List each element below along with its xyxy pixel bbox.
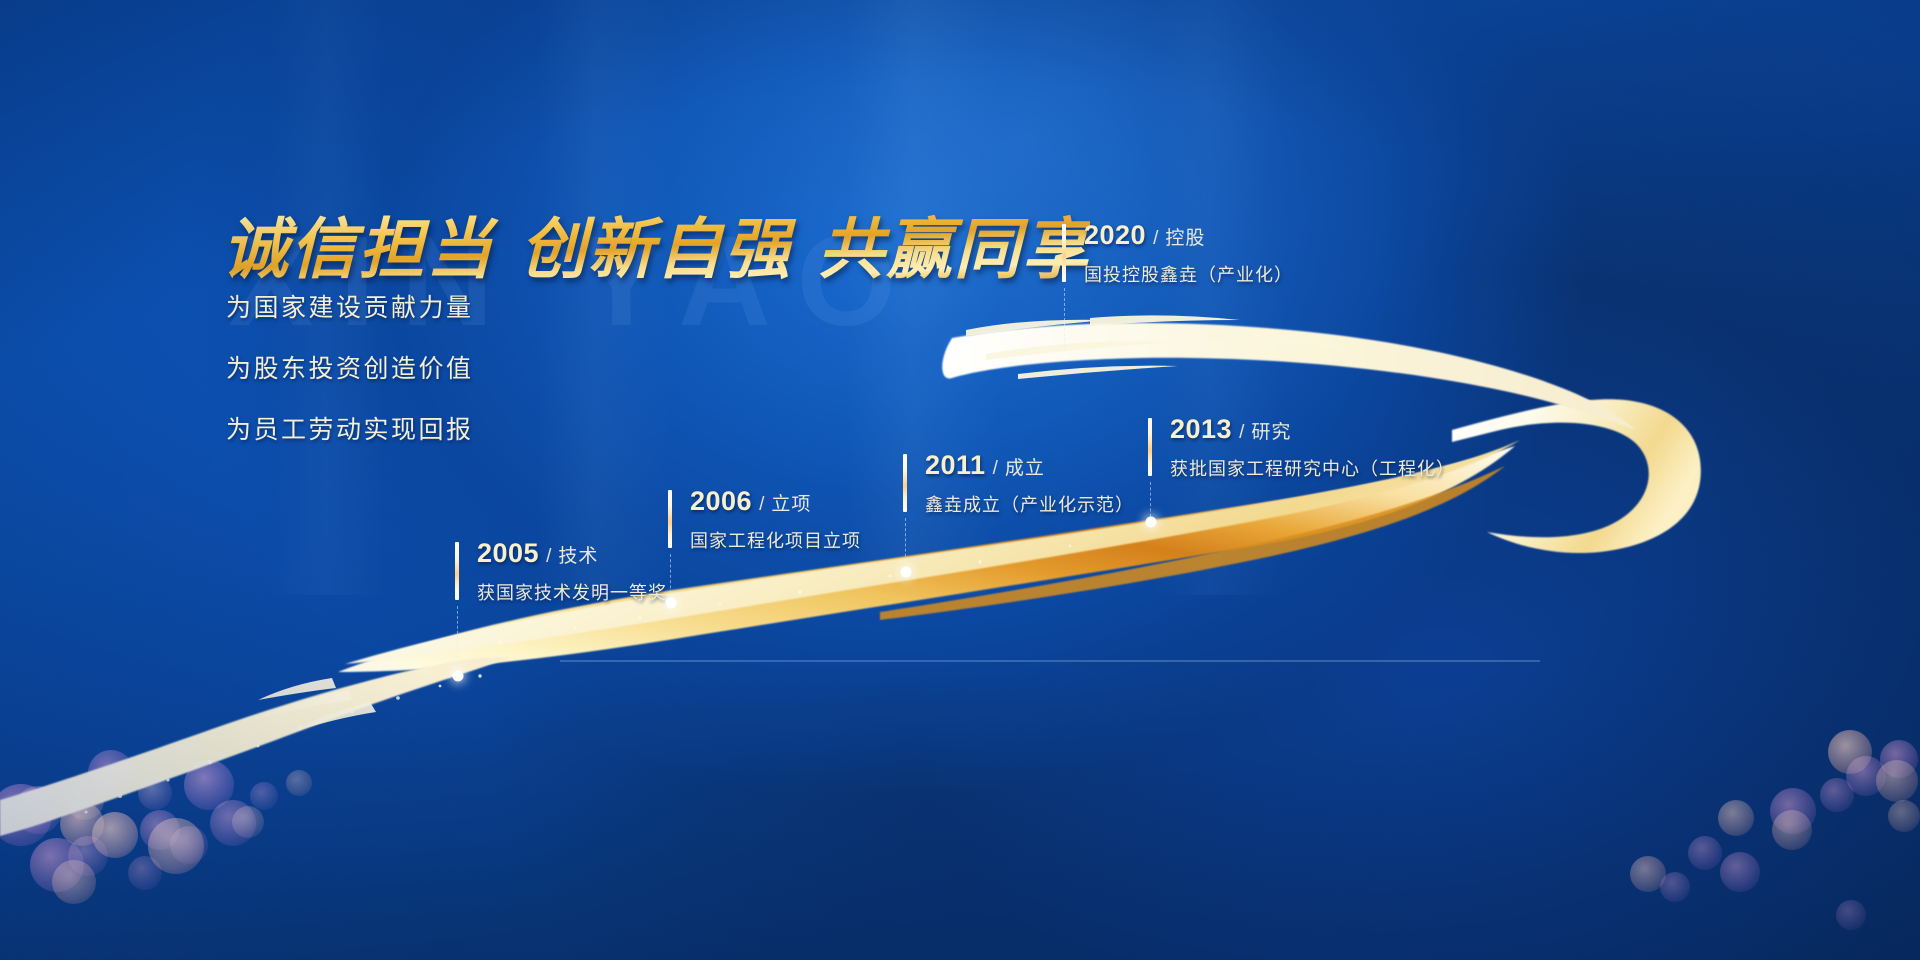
timeline-dot-2006: [666, 598, 677, 609]
timeline-description: 国家工程化项目立项: [690, 527, 861, 553]
timeline-text-block: 2020/控股 国投控股鑫垚（产业化）: [1062, 222, 1293, 287]
timeline-stem-2005: [457, 606, 458, 678]
timeline-separator: /: [1146, 228, 1165, 249]
timeline-tag: 控股: [1165, 228, 1205, 249]
headline-part-2: 创新自强: [520, 212, 792, 286]
subtitle-line: 为员工劳动实现回报: [226, 410, 474, 446]
bokeh-light: [1720, 852, 1760, 892]
timeline-separator: /: [986, 458, 1005, 479]
bokeh-light: [88, 750, 134, 796]
timeline-description: 获国家技术发明一等奖: [477, 579, 667, 605]
timeline-tag: 技术: [558, 546, 598, 567]
timeline-text-block: 2011/成立 鑫垚成立（产业化示范）: [903, 452, 1134, 517]
timeline-year: 2011: [925, 450, 986, 480]
timeline-heading: 2005/技术: [477, 540, 667, 567]
timeline-year: 2013: [1170, 414, 1232, 444]
timeline-dot-2005: [453, 671, 464, 682]
timeline-description: 鑫垚成立（产业化示范）: [925, 491, 1134, 517]
bokeh-light: [1772, 810, 1812, 850]
timeline-description: 国投控股鑫垚（产业化）: [1084, 261, 1293, 287]
timeline-text-block: 2006/立项 国家工程化项目立项: [668, 488, 861, 553]
timeline-text-block: 2013/研究 获批国家工程研究中心（工程化）: [1148, 416, 1455, 481]
bokeh-light: [210, 800, 256, 846]
timeline-dot-2013: [1146, 517, 1157, 528]
timeline-year: 2005: [477, 538, 539, 568]
bokeh-light: [1718, 800, 1754, 836]
bokeh-light: [184, 760, 234, 810]
headline-part-3: 共赢同享: [818, 212, 1090, 286]
bokeh-light: [14, 786, 62, 834]
timeline-item-2005[interactable]: 2005/技术 获国家技术发明一等奖: [455, 540, 667, 605]
bokeh-light: [1820, 778, 1854, 812]
bokeh-light: [1876, 760, 1918, 802]
bokeh-light: [30, 838, 84, 892]
bokeh-light: [92, 812, 138, 858]
bokeh-light: [68, 836, 108, 876]
timeline-dot-2011: [901, 567, 912, 578]
timeline-separator: /: [539, 546, 558, 567]
bokeh-light: [148, 818, 204, 874]
poster-canvas: XIN YAO 诚信担当创新自强共赢同享 为国家建设贡献力量 为股东投资创造价值…: [0, 0, 1920, 960]
page-title: 诚信担当创新自强共赢同享: [222, 196, 1090, 292]
timeline-heading: 2013/研究: [1170, 416, 1455, 443]
timeline-heading: 2006/立项: [690, 488, 861, 515]
subtitle-line: 为股东投资创造价值: [226, 349, 474, 385]
bokeh-light: [1836, 900, 1866, 930]
bokeh-light: [1770, 788, 1816, 834]
bokeh-light: [1630, 856, 1666, 892]
timeline-accent-bar: [903, 454, 907, 512]
subtitle-list: 为国家建设贡献力量 为股东投资创造价值 为员工劳动实现回报: [226, 288, 474, 471]
timeline-item-2011[interactable]: 2011/成立 鑫垚成立（产业化示范）: [903, 452, 1134, 517]
timeline-tag: 成立: [1005, 458, 1045, 479]
timeline-item-2013[interactable]: 2013/研究 获批国家工程研究中心（工程化）: [1148, 416, 1455, 481]
timeline-stem-2020: [1064, 288, 1065, 346]
bokeh-light: [138, 776, 172, 810]
bokeh-light: [286, 770, 312, 796]
bokeh-light: [1688, 836, 1722, 870]
bokeh-light: [1846, 756, 1886, 796]
bokeh-light: [1888, 800, 1920, 832]
bokeh-light: [1828, 730, 1872, 774]
timeline-heading: 2011/成立: [925, 452, 1134, 479]
bokeh-light: [250, 782, 278, 810]
timeline-item-2006[interactable]: 2006/立项 国家工程化项目立项: [668, 488, 861, 553]
timeline-tag: 研究: [1251, 422, 1291, 443]
bokeh-light: [170, 826, 208, 864]
bokeh-light: [1880, 740, 1918, 778]
timeline-heading: 2020/控股: [1084, 222, 1293, 249]
bokeh-light: [66, 782, 104, 820]
bokeh-light: [1660, 872, 1690, 902]
timeline-separator: /: [752, 494, 771, 515]
timeline-item-2020[interactable]: 2020/控股 国投控股鑫垚（产业化）: [1062, 222, 1293, 287]
timeline-accent-bar: [668, 490, 672, 548]
headline-part-1: 诚信担当: [222, 212, 494, 286]
timeline-year: 2006: [690, 486, 752, 516]
bokeh-light: [60, 802, 104, 846]
subtitle-line: 为国家建设贡献力量: [226, 288, 474, 324]
timeline-text-block: 2005/技术 获国家技术发明一等奖: [455, 540, 667, 605]
timeline-stem-2011: [905, 518, 906, 572]
bokeh-light: [140, 810, 180, 850]
timeline-stem-2006: [670, 554, 671, 604]
timeline-description: 获批国家工程研究中心（工程化）: [1170, 455, 1455, 481]
timeline-accent-bar: [455, 542, 459, 600]
timeline-separator: /: [1232, 422, 1251, 443]
timeline-accent-bar: [1148, 418, 1152, 476]
bokeh-light: [232, 806, 264, 838]
bokeh-light: [128, 856, 162, 890]
bokeh-light: [0, 784, 52, 846]
timeline-tag: 立项: [771, 494, 811, 515]
timeline-year: 2020: [1084, 220, 1146, 250]
bokeh-light: [52, 860, 96, 904]
timeline-accent-bar: [1062, 224, 1066, 282]
